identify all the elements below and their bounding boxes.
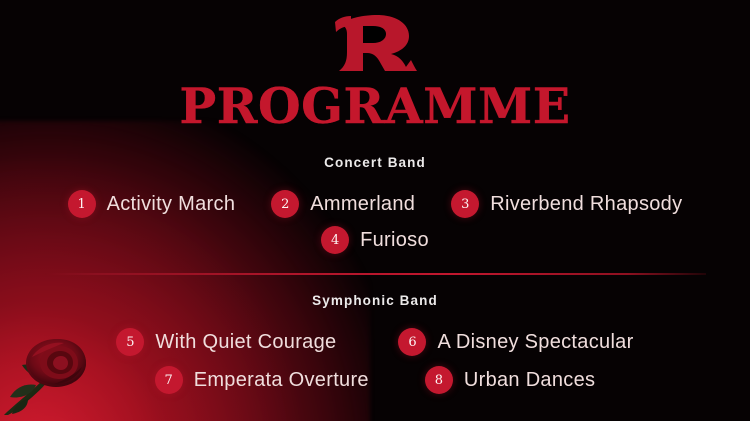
piece-row: 4 Furioso <box>0 226 750 254</box>
list-item[interactable]: 7 Emperata Overture <box>155 366 369 394</box>
piece-title: A Disney Spectacular <box>437 331 633 354</box>
section-label-symphonic-band: Symphonic Band <box>0 293 750 308</box>
piece-title: Urban Dances <box>464 369 595 392</box>
piece-title: Furioso <box>360 229 429 252</box>
piece-number-badge: 7 <box>155 366 183 394</box>
piece-title: Riverbend Rhapsody <box>490 193 682 216</box>
section-symphonic-band: Symphonic Band 5 With Quiet Courage 6 A … <box>0 293 750 394</box>
piece-title: With Quiet Courage <box>155 331 336 354</box>
piece-number-badge: 6 <box>398 328 426 356</box>
piece-number-badge: 5 <box>116 328 144 356</box>
section-concert-band: Concert Band 1 Activity March 2 Ammerlan… <box>0 155 750 254</box>
list-item[interactable]: 6 A Disney Spectacular <box>398 328 633 356</box>
list-item[interactable]: 3 Riverbend Rhapsody <box>451 190 682 218</box>
piece-row: 1 Activity March 2 Ammerland 3 Riverbend… <box>0 190 750 218</box>
page-title: PROGRAMME <box>0 82 750 131</box>
piece-number-badge: 3 <box>451 190 479 218</box>
list-item[interactable]: 1 Activity March <box>68 190 236 218</box>
piece-title: Emperata Overture <box>194 369 369 392</box>
logo-container <box>0 14 750 76</box>
piece-number-badge: 2 <box>271 190 299 218</box>
section-divider <box>45 273 706 275</box>
piece-row: 5 With Quiet Courage 6 A Disney Spectacu… <box>0 328 750 356</box>
list-item[interactable]: 5 With Quiet Courage <box>116 328 336 356</box>
piece-title: Ammerland <box>310 193 415 216</box>
list-item[interactable]: 2 Ammerland <box>271 190 415 218</box>
programme-slide: PROGRAMME Concert Band 1 Activity March … <box>0 0 750 421</box>
list-item[interactable]: 4 Furioso <box>321 226 429 254</box>
list-item[interactable]: 8 Urban Dances <box>425 366 595 394</box>
piece-row: 7 Emperata Overture 8 Urban Dances <box>0 366 750 394</box>
piece-title: Activity March <box>107 193 236 216</box>
piece-number-badge: 1 <box>68 190 96 218</box>
section-label-concert-band: Concert Band <box>0 155 750 170</box>
piece-number-badge: 8 <box>425 366 453 394</box>
band-r-logo-icon <box>333 14 417 72</box>
piece-number-badge: 4 <box>321 226 349 254</box>
